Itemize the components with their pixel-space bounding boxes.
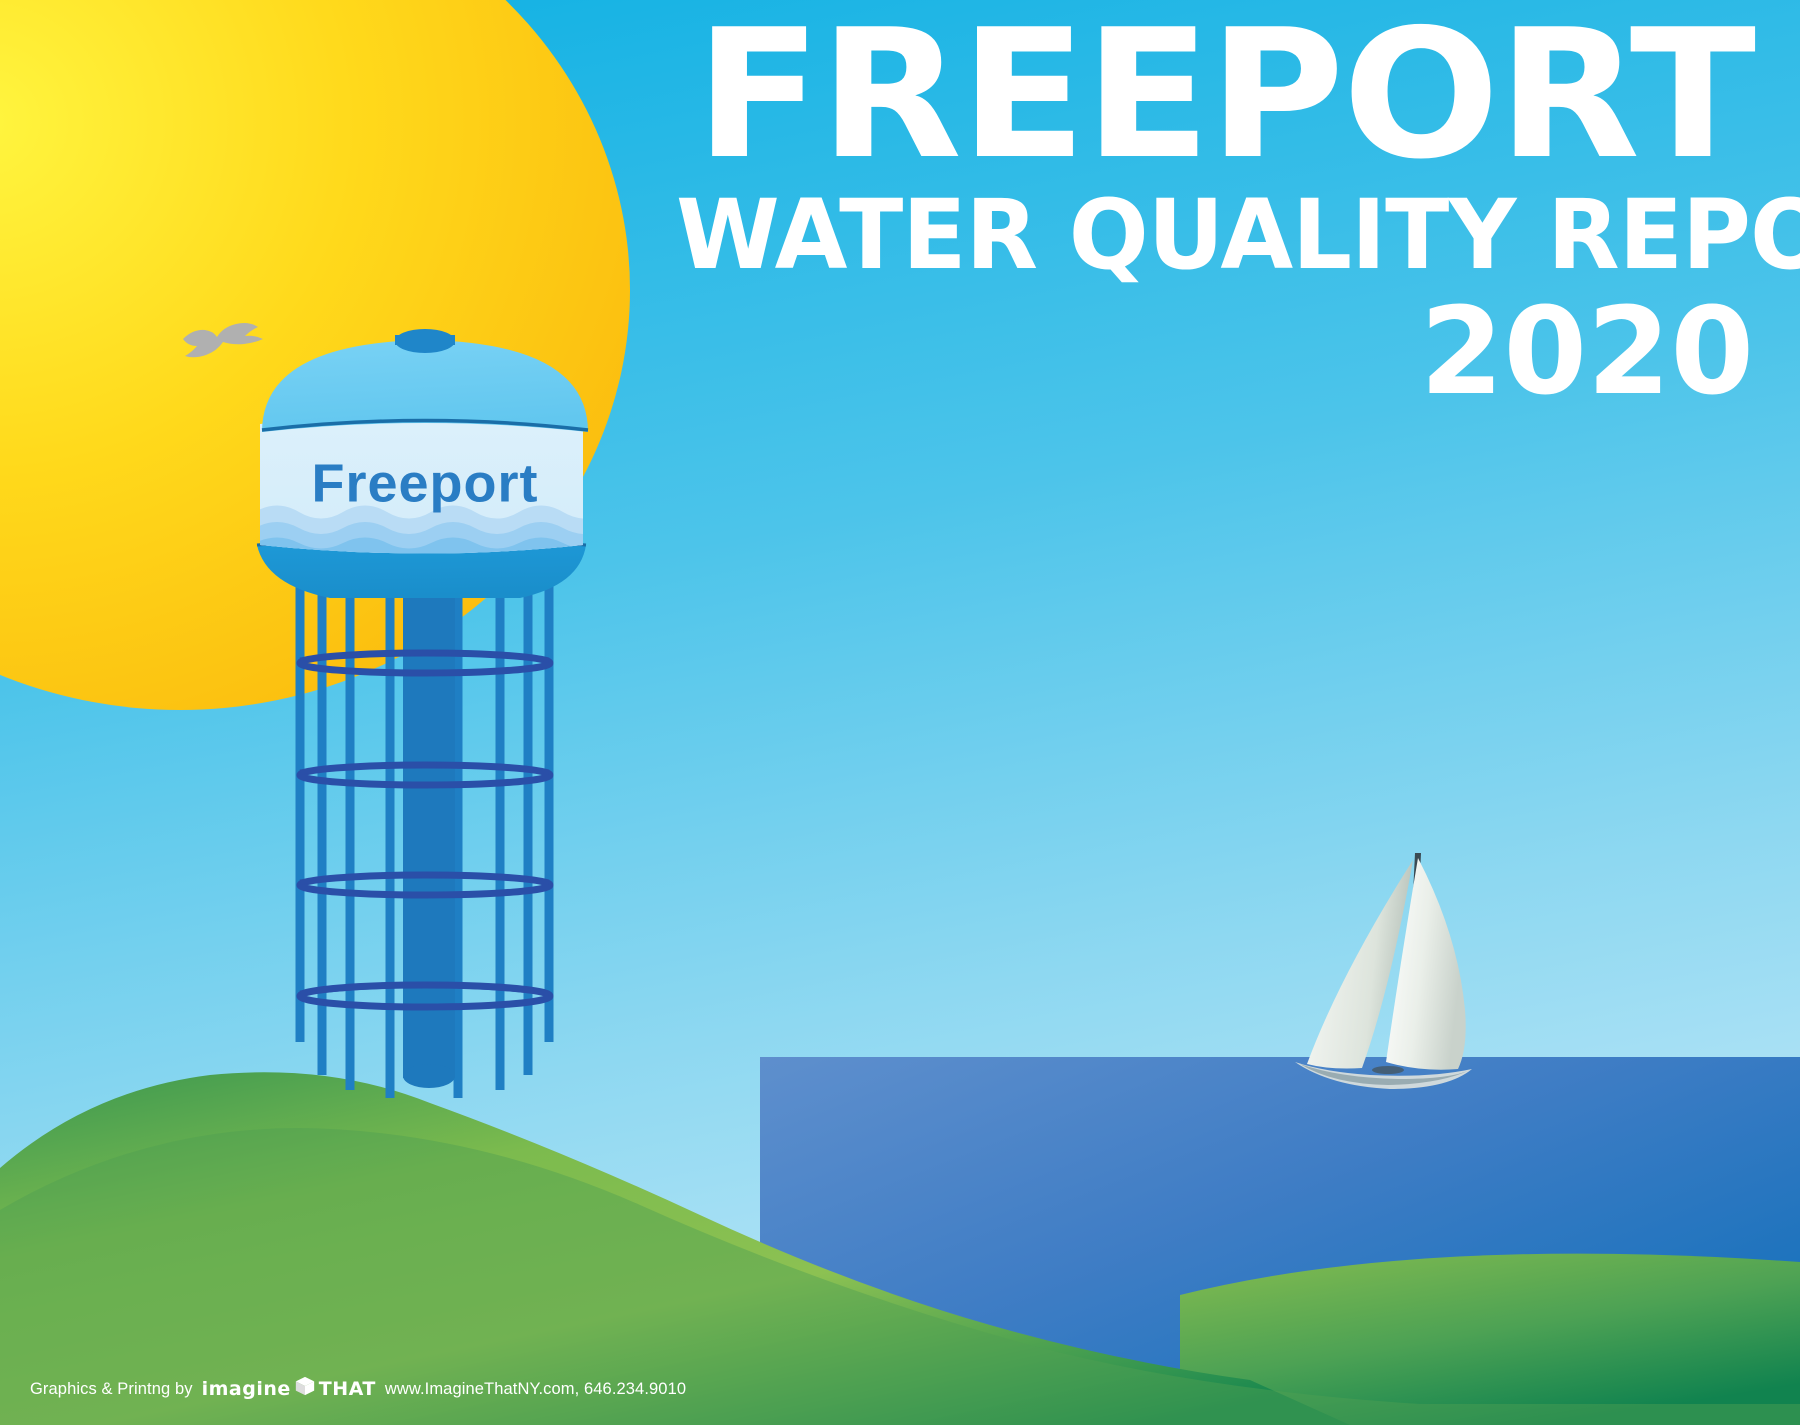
footer-url-phone: www.ImagineThatNY.com, 646.234.9010 xyxy=(385,1380,686,1399)
tower-column-foot xyxy=(403,1064,455,1088)
imagine-that-logo: imagine THAT xyxy=(202,1375,376,1403)
tower-label-text: Freeport xyxy=(311,453,538,513)
report-year: 2020 xyxy=(654,293,1754,413)
logo-word-imagine: imagine xyxy=(202,1378,291,1400)
page-title: FREEPORT xyxy=(610,18,1754,171)
logo-word-that: THAT xyxy=(319,1378,376,1400)
footer-credit-line: Graphics & Printng by imagine THAT www.I… xyxy=(30,1375,686,1403)
page-subtitle: WATER QUALITY REPORT xyxy=(676,187,1754,285)
cover-title-block: FREEPORT WATER QUALITY REPORT 2020 xyxy=(654,18,1754,413)
report-cover-page: Freeport FREEPORT WATER QUALITY REPORT 2… xyxy=(0,0,1800,1425)
footer-credit-text: Graphics & Printng by xyxy=(30,1380,193,1399)
cube-icon xyxy=(294,1375,316,1403)
tower-column xyxy=(403,560,455,1078)
